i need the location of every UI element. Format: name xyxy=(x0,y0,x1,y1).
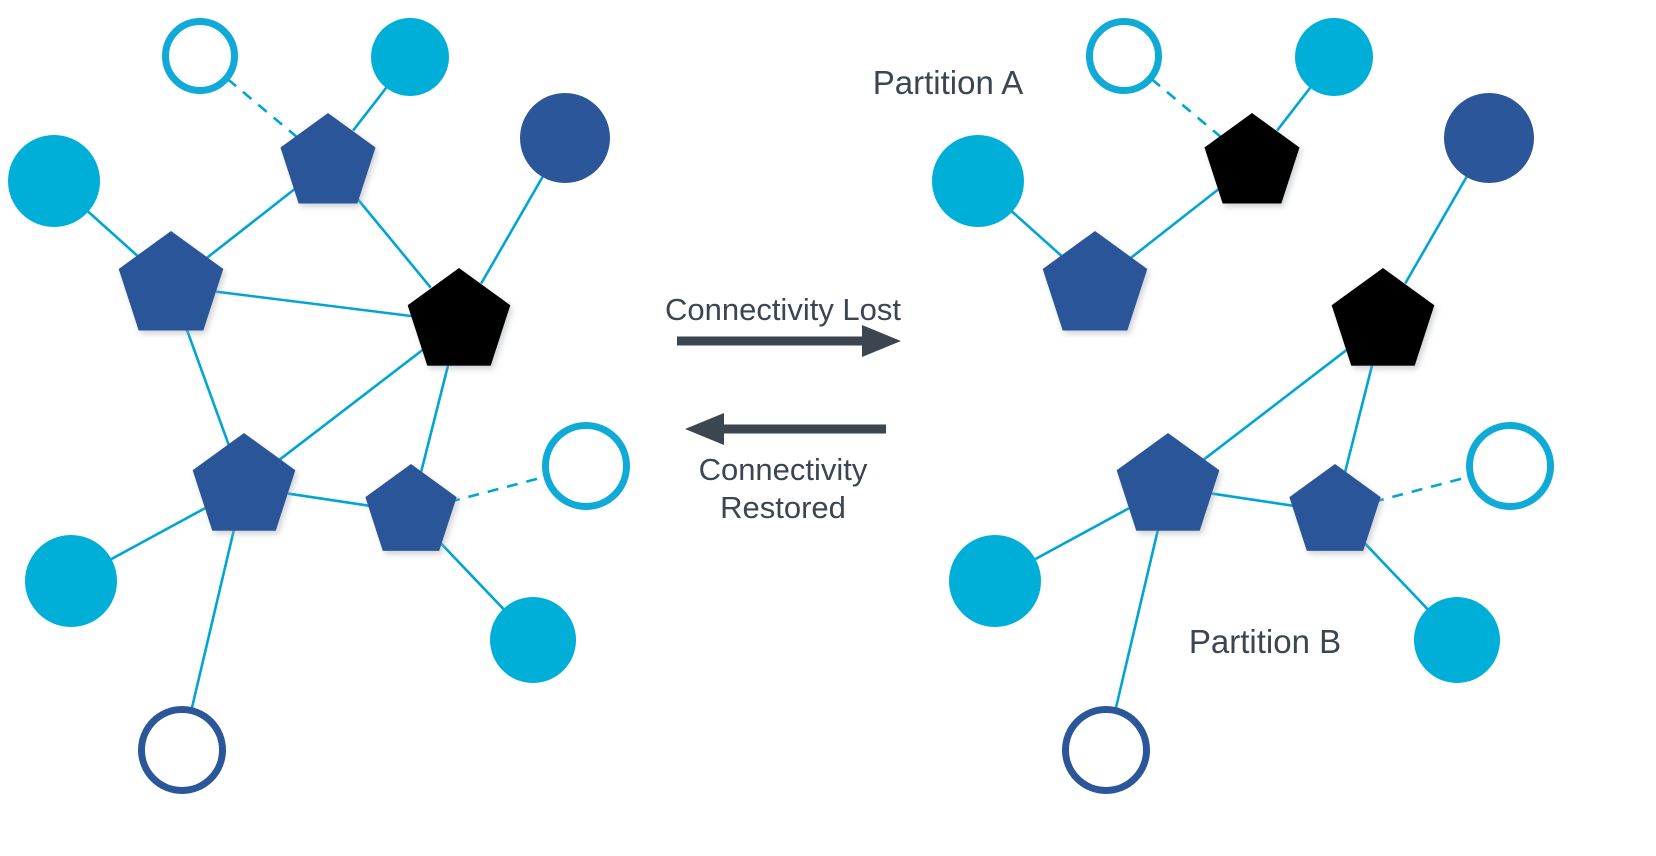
node-circle-L-c-open-top[interactable] xyxy=(166,22,235,91)
connectivity-lost-arrow-group: Connectivity Lost xyxy=(665,292,901,357)
connectivity-lost-arrow-head xyxy=(862,325,901,357)
edge-R-c-cyan-left-R-p-left xyxy=(1011,210,1062,255)
node-pentagon-L-p-left[interactable] xyxy=(119,231,224,331)
node-circle-R-c-cyan-botl[interactable] xyxy=(949,535,1041,627)
node-pentagon-R-p-lowright[interactable] xyxy=(1289,464,1380,551)
edge-L-c-cyan-left-L-p-left xyxy=(87,210,138,255)
edge-L-p-lowright-L-c-cyan-botr xyxy=(438,540,505,610)
node-circle-L-c-cyan-left[interactable] xyxy=(8,135,100,227)
node-circle-R-c-open-right[interactable] xyxy=(1470,426,1551,507)
edge-L-p-top-L-p-black xyxy=(354,195,431,288)
edge-R-p-lowleft-R-c-cyan-botl xyxy=(1034,508,1129,560)
node-pentagon-L-p-lowright[interactable] xyxy=(365,464,456,551)
edge-R-p-lowright-R-c-open-right xyxy=(1373,477,1469,502)
node-circle-L-c-open-bot[interactable] xyxy=(142,710,223,791)
edge-R-c-open-top-R-p-top-black xyxy=(1152,79,1221,137)
connectivity-restored-label-line2: Restored xyxy=(720,490,846,525)
edge-L-p-left-L-p-black xyxy=(216,292,415,317)
node-circle-L-c-cyan-top[interactable] xyxy=(371,18,449,96)
node-circle-L-c-open-right[interactable] xyxy=(546,426,627,507)
node-circle-R-c-blue-right[interactable] xyxy=(1444,93,1534,183)
edge-R-p-lowleft-R-p-lowright xyxy=(1212,494,1296,507)
partition-b-label: Partition B xyxy=(1189,623,1341,660)
edge-L-p-lowleft-L-c-cyan-botl xyxy=(110,508,205,560)
partition-a-label: Partition A xyxy=(873,64,1023,101)
connectivity-restored-label-line1: Connectivity xyxy=(699,452,868,487)
edge-R-p-black-R-p-lowright xyxy=(1345,365,1372,474)
edge-R-p-top-black-R-p-left xyxy=(1131,188,1220,258)
node-circle-L-c-cyan-botr[interactable] xyxy=(490,597,576,683)
edge-L-p-top-L-p-left xyxy=(207,188,296,258)
node-pentagon-R-p-top-black[interactable] xyxy=(1204,113,1299,203)
left-panel-nodes xyxy=(8,18,627,791)
node-circle-R-c-open-bot[interactable] xyxy=(1066,710,1147,791)
node-circle-L-c-cyan-botl[interactable] xyxy=(25,535,117,627)
edge-L-p-lowright-L-c-open-right xyxy=(449,477,545,502)
edge-L-p-lowleft-L-p-lowright xyxy=(288,494,372,507)
node-circle-R-c-open-top[interactable] xyxy=(1090,22,1159,91)
node-pentagon-R-p-lowleft[interactable] xyxy=(1117,433,1220,531)
edge-R-p-lowleft-R-c-open-bot xyxy=(1116,530,1158,709)
edge-L-c-blue-right-L-p-black xyxy=(481,175,543,283)
node-pentagon-R-p-left[interactable] xyxy=(1043,231,1148,331)
connectivity-restored-arrow-head xyxy=(685,413,724,445)
node-pentagon-L-p-top[interactable] xyxy=(280,113,375,203)
node-circle-R-c-cyan-left[interactable] xyxy=(932,135,1024,227)
connectivity-lost-label: Connectivity Lost xyxy=(665,292,901,327)
edge-R-c-blue-right-R-p-black xyxy=(1405,175,1467,283)
right-panel-nodes xyxy=(932,18,1551,791)
edge-R-p-lowright-R-c-cyan-botr xyxy=(1362,540,1429,610)
edge-L-c-cyan-top-L-p-top xyxy=(353,86,387,130)
node-pentagon-L-p-black[interactable] xyxy=(408,268,511,366)
node-pentagon-L-p-lowleft[interactable] xyxy=(193,433,296,531)
node-circle-L-c-blue-right[interactable] xyxy=(520,93,610,183)
edge-L-c-open-top-L-p-top xyxy=(228,79,297,137)
edge-L-p-lowleft-L-c-open-bot xyxy=(192,530,234,709)
node-pentagon-R-p-black[interactable] xyxy=(1332,268,1435,366)
edge-L-p-left-L-p-lowleft xyxy=(186,329,228,446)
diagram-canvas: Connectivity Lost Connectivity Restored … xyxy=(0,0,1656,856)
node-circle-R-c-cyan-botr[interactable] xyxy=(1414,597,1500,683)
node-circle-R-c-cyan-top[interactable] xyxy=(1295,18,1373,96)
edge-L-p-black-L-p-lowleft xyxy=(279,349,423,460)
edge-L-p-black-L-p-lowright xyxy=(421,365,448,474)
edge-R-p-black-R-p-lowleft xyxy=(1203,349,1347,460)
edge-R-c-cyan-top-R-p-top-black xyxy=(1277,86,1311,130)
network-partition-diagram: Connectivity Lost Connectivity Restored … xyxy=(0,0,1656,856)
connectivity-restored-arrow-group: Connectivity Restored xyxy=(685,413,886,525)
